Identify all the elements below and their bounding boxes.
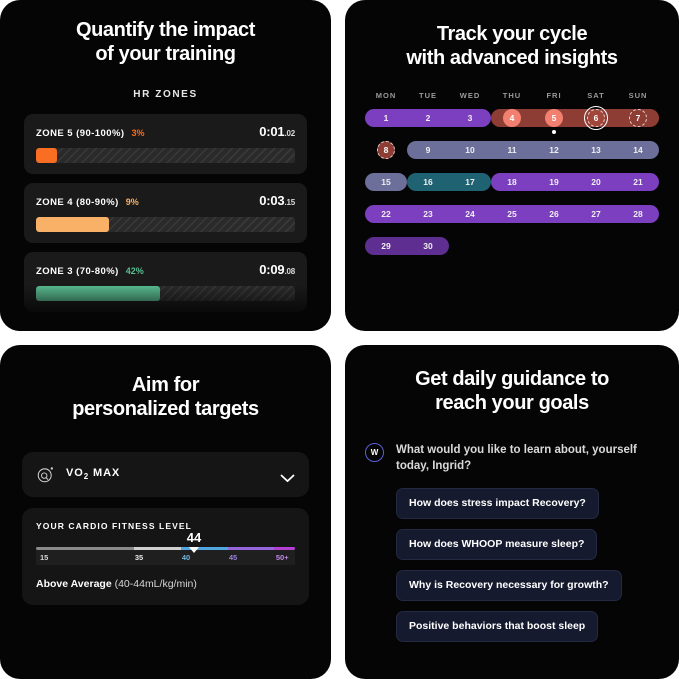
calendar-week-row: 22232425262728	[365, 205, 659, 223]
hr-zone-name: ZONE 3 (70-80%)	[36, 266, 119, 277]
calendar-day-cell[interactable]: 17	[449, 173, 491, 191]
coach-suggestion-bubble[interactable]: Positive behaviors that boost sleep	[396, 611, 598, 642]
fitness-range: (40-44mL/kg/min)	[112, 578, 197, 590]
hr-zone-seconds: .08	[284, 267, 295, 276]
hr-zone-name: ZONE 5 (90-100%)	[36, 128, 125, 139]
calendar-weekday: SUN	[617, 91, 659, 100]
coach-suggestion-bubble[interactable]: How does stress impact Recovery?	[396, 488, 599, 519]
calendar-period-day[interactable]: 8	[377, 141, 395, 159]
panel-hr-title-line1: Quantify the impact	[0, 18, 331, 42]
calendar-period-day[interactable]: 5	[545, 109, 563, 127]
calendar-body: 1234567456789101112131481516171819202122…	[365, 109, 659, 255]
hr-zone-row[interactable]: ZONE 4 (80-90%)9%0:03.15	[24, 183, 307, 243]
hr-zone-bar-fill	[36, 217, 109, 232]
hr-zone-name: ZONE 4 (80-90%)	[36, 197, 119, 208]
chevron-down-icon[interactable]	[280, 470, 295, 479]
calendar-day-cell[interactable]: 11	[491, 141, 533, 159]
gauge-value: 44	[187, 530, 201, 545]
calendar-day-cell[interactable]: 28	[617, 205, 659, 223]
panel-vo2-title: Aim for personalized targets	[0, 345, 331, 422]
panel-coach-title-line1: Get daily guidance to	[345, 367, 679, 391]
hr-zone-bar-fill	[36, 148, 57, 163]
calendar-week-row: 8910111213148	[365, 141, 659, 159]
calendar-week-row: 12345674567	[365, 109, 659, 127]
calendar-day-cell[interactable]: 27	[575, 205, 617, 223]
hr-zone-bar	[36, 148, 295, 163]
calendar-weekday: SAT	[575, 91, 617, 100]
calendar-empty-cell	[617, 237, 659, 255]
fitness-gauge: 44 1535404550+	[36, 547, 295, 566]
calendar-day-cell[interactable]: 12	[533, 141, 575, 159]
vo2max-selector[interactable]: VO2 MAX	[22, 452, 309, 497]
calendar-day-cell[interactable]: 20	[575, 173, 617, 191]
coach-question-text: What would you like to learn about, your…	[396, 442, 657, 475]
cardio-fitness-card: YOUR CARDIO FITNESS LEVEL 44 1535404550+…	[22, 508, 309, 606]
fitness-description: Above Average (40-44mL/kg/min)	[36, 578, 295, 590]
hr-zone-row[interactable]: ZONE 3 (70-80%)42%0:09.08	[24, 252, 307, 312]
calendar-weekday-header: MONTUEWEDTHUFRISATSUN	[365, 91, 659, 100]
calendar-day-cell[interactable]: 18	[491, 173, 533, 191]
hr-zone-bar	[36, 217, 295, 232]
calendar-today-ring	[584, 106, 608, 130]
hr-zone-percent: 42%	[126, 266, 144, 276]
hr-zone-percent: 9%	[126, 197, 139, 207]
calendar-empty-cell	[491, 237, 533, 255]
gauge-tick: 40	[178, 550, 225, 565]
cardio-fitness-label: YOUR CARDIO FITNESS LEVEL	[36, 521, 295, 531]
calendar-day-cell[interactable]: 15	[365, 173, 407, 191]
panel-coach-title-line2: reach your goals	[345, 391, 679, 415]
calendar-day-cell[interactable]: 9	[407, 141, 449, 159]
calendar-weekday: FRI	[533, 91, 575, 100]
coach-question-row: W What would you like to learn about, yo…	[365, 442, 657, 475]
panel-grid: Quantify the impact of your training HR …	[0, 0, 679, 679]
calendar-day-cell[interactable]: 10	[449, 141, 491, 159]
panel-hr-title: Quantify the impact of your training	[0, 0, 331, 67]
calendar-day-cell[interactable]: 2	[407, 109, 449, 127]
hr-zone-seconds: .02	[284, 129, 295, 138]
panel-hr-title-line2: of your training	[0, 42, 331, 66]
whoop-avatar-icon: W	[365, 443, 384, 462]
hr-zone-time: 0:09.08	[259, 262, 295, 277]
panel-coach: Get daily guidance to reach your goals W…	[345, 345, 679, 679]
hr-zone-seconds: .15	[284, 198, 295, 207]
calendar-day-cell[interactable]: 14	[617, 141, 659, 159]
panel-cycle: Track your cycle with advanced insights …	[345, 0, 679, 331]
calendar-day-cell[interactable]: 13	[575, 141, 617, 159]
gauge-marker	[189, 547, 199, 553]
calendar-weekday: MON	[365, 91, 407, 100]
coach-suggestion-bubble[interactable]: How does WHOOP measure sleep?	[396, 529, 597, 560]
calendar-day-cell[interactable]: 29	[365, 237, 407, 255]
calendar-day-cell[interactable]: 21	[617, 173, 659, 191]
calendar-event-dot	[552, 130, 556, 134]
calendar-day-cell[interactable]: 22	[365, 205, 407, 223]
hr-zone-row[interactable]: ZONE 5 (90-100%)3%0:01.02	[24, 114, 307, 174]
hr-zones-label: HR ZONES	[0, 89, 331, 100]
calendar-week-row: 2930	[365, 237, 659, 255]
panel-cycle-title: Track your cycle with advanced insights	[345, 0, 679, 71]
calendar-weekday: WED	[449, 91, 491, 100]
coach-suggestion-bubble[interactable]: Why is Recovery necessary for growth?	[396, 570, 622, 601]
hr-zone-bar	[36, 286, 295, 301]
calendar-empty-cell	[449, 237, 491, 255]
coach-chat: W What would you like to learn about, yo…	[365, 442, 657, 643]
coach-suggestion-list: How does stress impact Recovery?How does…	[365, 488, 657, 642]
calendar-day-cell[interactable]: 26	[533, 205, 575, 223]
gauge-tick: 45	[225, 550, 272, 565]
hr-zone-time: 0:01.02	[259, 124, 295, 139]
calendar-period-day[interactable]: 7	[629, 109, 647, 127]
panel-vo2max: Aim for personalized targets VO2 MAX YOU…	[0, 345, 331, 679]
panel-cycle-title-line2: with advanced insights	[345, 46, 679, 70]
calendar-day-cell[interactable]: 3	[449, 109, 491, 127]
calendar-empty-cell	[575, 237, 617, 255]
calendar-day-cell[interactable]: 19	[533, 173, 575, 191]
hr-zone-time: 0:03.15	[259, 193, 295, 208]
panel-coach-title: Get daily guidance to reach your goals	[345, 345, 679, 416]
calendar-empty-cell	[533, 237, 575, 255]
panel-vo2-title-line2: personalized targets	[0, 397, 331, 421]
gauge-tick: 35	[131, 550, 178, 565]
hr-zones-list: ZONE 5 (90-100%)3%0:01.02ZONE 4 (80-90%)…	[24, 114, 307, 331]
calendar-weekday: THU	[491, 91, 533, 100]
cycle-calendar: MONTUEWEDTHUFRISATSUN 123456745678910111…	[365, 91, 659, 255]
calendar-day-cell[interactable]: 25	[491, 205, 533, 223]
fitness-category: Above Average	[36, 578, 112, 590]
calendar-day-cell[interactable]: 1	[365, 109, 407, 127]
calendar-day-cell[interactable]: 23	[407, 205, 449, 223]
gauge-tick: 50+	[272, 550, 295, 565]
panel-hr-zones: Quantify the impact of your training HR …	[0, 0, 331, 331]
vo2-metric-label: VO2 MAX	[66, 467, 120, 481]
hr-zone-percent: 3%	[132, 128, 145, 138]
panel-cycle-title-line1: Track your cycle	[345, 22, 679, 46]
hr-zone-row[interactable]: ZONE 2 (60-70%)33%0:17.21	[24, 321, 307, 331]
calendar-week-row: 15161718192021	[365, 173, 659, 191]
gauge-tick-labels: 1535404550+	[36, 550, 295, 565]
calendar-day-cell[interactable]: 30	[407, 237, 449, 255]
calendar-period-day[interactable]: 4	[503, 109, 521, 127]
hr-zone-bar-fill	[36, 286, 160, 301]
calendar-day-cell[interactable]: 24	[449, 205, 491, 223]
calendar-day-cell[interactable]: 16	[407, 173, 449, 191]
calendar-weekday: TUE	[407, 91, 449, 100]
gauge-tick: 15	[36, 550, 131, 565]
vo2-oxygen-icon	[36, 465, 55, 484]
panel-vo2-title-line1: Aim for	[0, 373, 331, 397]
